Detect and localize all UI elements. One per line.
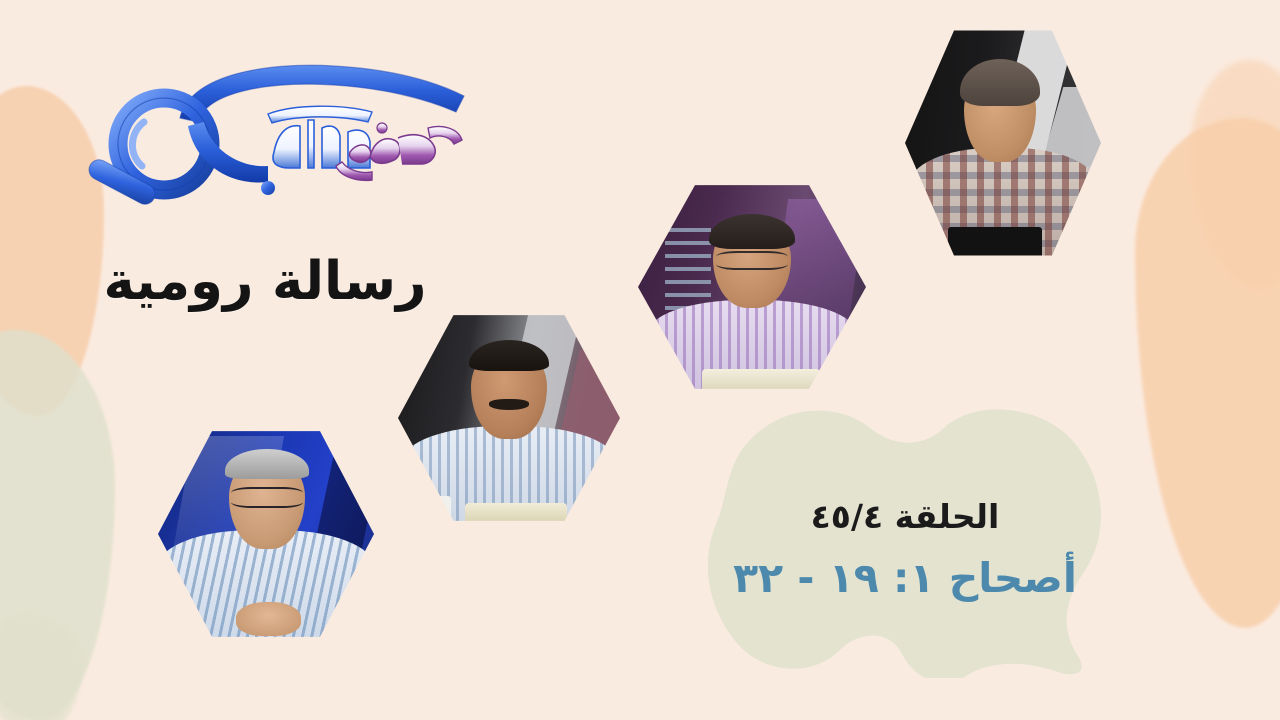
glasses-icon [231, 487, 302, 508]
episode-info-text: الحلقة ٤٥/٤ أصحاح ١: ١٩ - ٣٢ [690, 406, 1120, 678]
page-title: رسالة رومية [90, 252, 440, 313]
guest-photo-1-scene [905, 27, 1101, 259]
sage-blob-bottom-left [0, 616, 82, 720]
guest-photo-2 [638, 182, 866, 392]
program-logo [72, 48, 472, 208]
mug-icon [416, 496, 452, 524]
peach-blob-right-upper [1190, 60, 1280, 290]
broadcast-title-card: رسالة رومية [0, 0, 1280, 720]
guest-hands [236, 602, 301, 636]
chapter-reference-label: أصحاح ١: ١٩ - ٣٢ [733, 553, 1077, 604]
episode-number-label: الحلقة ٤٥/٤ [811, 496, 1000, 537]
peach-blob-right [1135, 118, 1280, 628]
laptop-icon [948, 227, 1042, 259]
guest-moustache [489, 399, 529, 410]
guest-photo-4-scene [158, 428, 374, 640]
guest-photo-4 [158, 428, 374, 640]
studio-rail [665, 228, 711, 312]
guest-photo-3 [398, 312, 620, 524]
book-icon [465, 503, 567, 524]
sage-blob-left [0, 330, 115, 720]
guest-photo-3-scene [398, 312, 620, 524]
guest-hair [709, 214, 796, 250]
book-icon [702, 369, 821, 392]
guest-photo-1 [905, 27, 1101, 259]
glasses-icon [716, 251, 789, 270]
episode-info-panel: الحلقة ٤٥/٤ أصحاح ١: ١٩ - ٣٢ [690, 406, 1120, 678]
guest-photo-2-scene [638, 182, 866, 392]
